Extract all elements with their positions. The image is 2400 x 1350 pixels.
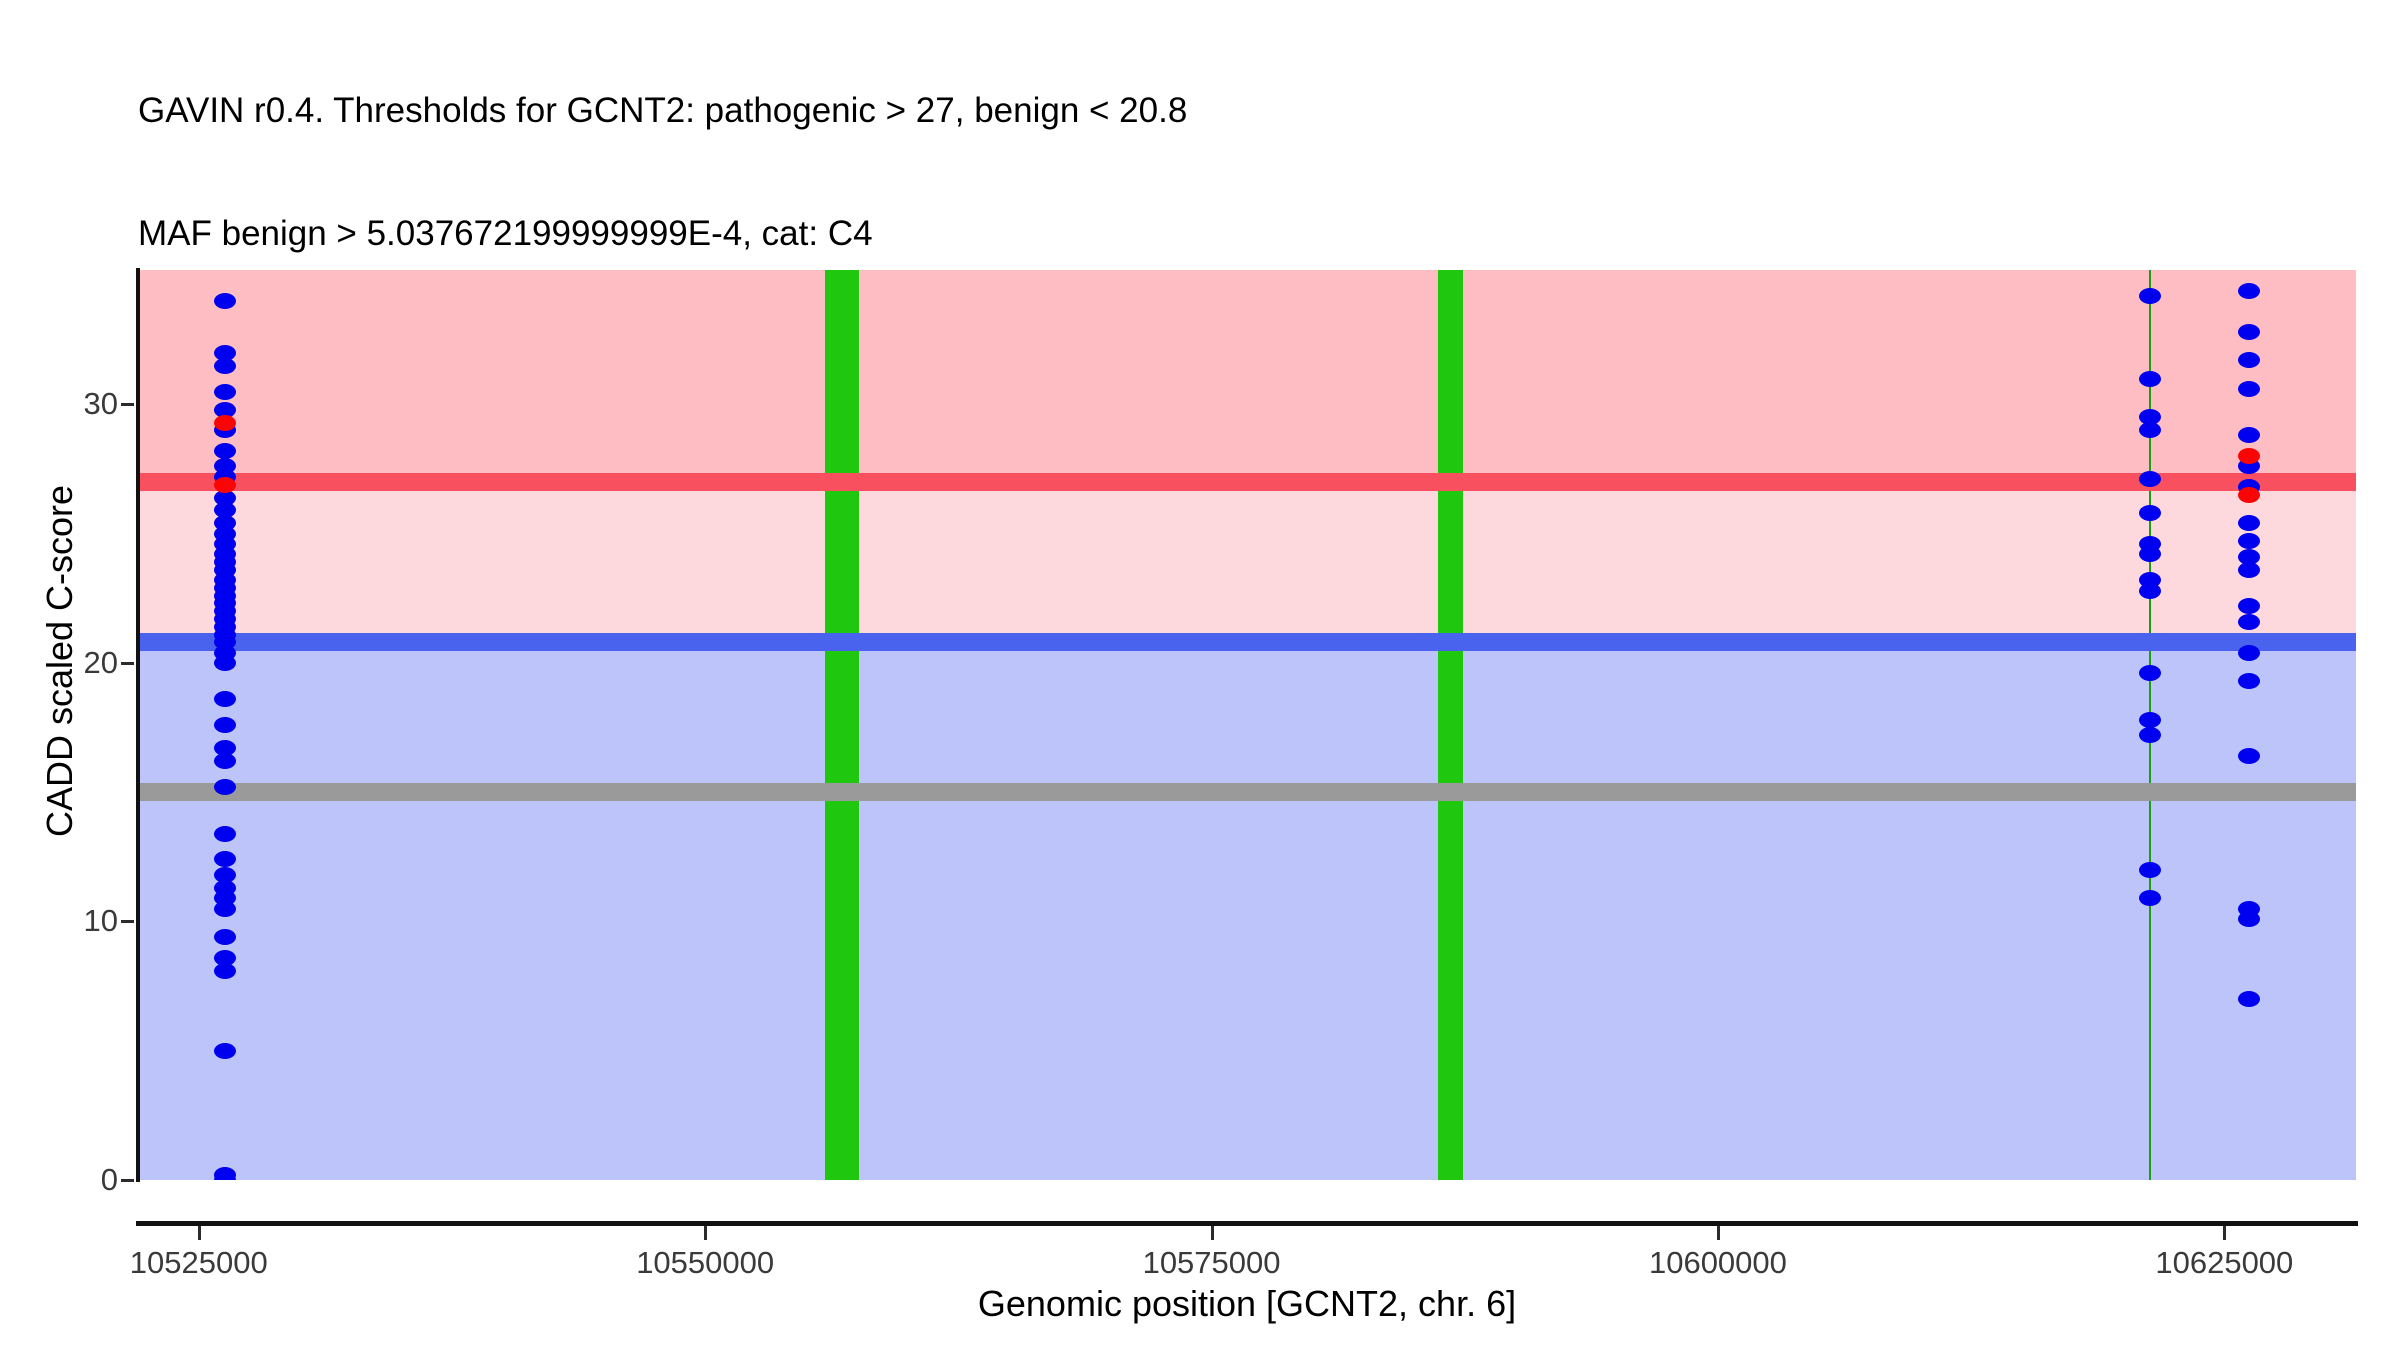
- gnomad-variant-point: [214, 929, 236, 945]
- clinvar-pathogenic-point: [2238, 487, 2260, 503]
- y-axis-label: CADD scaled C-score: [39, 231, 81, 1091]
- x-tick-label: 10600000: [1649, 1245, 1787, 1281]
- band-vus: [138, 482, 2356, 642]
- x-tick-mark: [1717, 1226, 1720, 1240]
- gnomad-variant-point: [214, 717, 236, 733]
- x-tick-mark: [2223, 1226, 2226, 1240]
- refseq-exon-1: [825, 270, 859, 1180]
- gnomad-variant-point: [214, 443, 236, 459]
- chart-title-line-2: MAF benign > 5.037672199999999E-4, cat: …: [138, 213, 2338, 254]
- gnomad-variant-point: [2238, 515, 2260, 531]
- gnomad-variant-point: [2238, 381, 2260, 397]
- gnomad-variant-point: [2139, 583, 2161, 599]
- threshold-line-pathogenic: [138, 473, 2356, 491]
- gnomad-variant-point: [2238, 748, 2260, 764]
- gnomad-variant-point: [214, 1043, 236, 1059]
- x-tick-mark: [1211, 1226, 1214, 1240]
- gnomad-variant-point: [2238, 598, 2260, 614]
- x-tick-mark: [704, 1226, 707, 1240]
- x-tick-label: 10525000: [130, 1245, 268, 1281]
- gnomad-variant-point: [2238, 562, 2260, 578]
- gnomad-variant-point: [214, 779, 236, 795]
- gnomad-variant-point: [214, 384, 236, 400]
- gnomad-variant-point: [214, 293, 236, 309]
- gnomad-variant-point: [2139, 862, 2161, 878]
- chart-root: GAVIN r0.4. Thresholds for GCNT2: pathog…: [0, 0, 2400, 1350]
- gnomad-variant-point: [214, 358, 236, 374]
- gnomad-variant-point: [2238, 991, 2260, 1007]
- x-tick-label: 10550000: [636, 1245, 774, 1281]
- clinvar-pathogenic-point: [214, 477, 236, 493]
- gnomad-variant-point: [2238, 673, 2260, 689]
- gnomad-variant-point: [2139, 371, 2161, 387]
- x-axis-label: Genomic position [GCNT2, chr. 6]: [138, 1283, 2356, 1325]
- x-axis-line: [136, 1221, 2358, 1226]
- gnomad-variant-point: [2238, 645, 2260, 661]
- x-tick-label: 10625000: [2155, 1245, 2293, 1281]
- x-tick-mark: [198, 1226, 201, 1240]
- gnomad-variant-point: [2238, 911, 2260, 927]
- threshold-line-benign: [138, 633, 2356, 651]
- gnomad-variant-point: [2238, 283, 2260, 299]
- gnomad-variant-point: [2139, 712, 2161, 728]
- chart-title-line-1: GAVIN r0.4. Thresholds for GCNT2: pathog…: [138, 90, 2338, 131]
- clinvar-pathogenic-point: [214, 415, 236, 431]
- y-tick-label: 0: [0, 1162, 134, 1198]
- band-benign: [138, 642, 2356, 1180]
- plot-panel: [138, 270, 2356, 1180]
- refseq-exon-2: [1438, 270, 1462, 1180]
- gnomad-variant-point: [214, 901, 236, 917]
- gnomad-variant-point: [2238, 614, 2260, 630]
- clinvar-pathogenic-point: [2238, 448, 2260, 464]
- gnomad-variant-point: [2238, 324, 2260, 340]
- x-tick-label: 10575000: [1143, 1245, 1281, 1281]
- y-axis-line: [136, 268, 140, 1182]
- gnomad-variant-point: [214, 826, 236, 842]
- gnomad-variant-point: [214, 655, 236, 671]
- gnomad-variant-point: [214, 963, 236, 979]
- band-above-pathogenic: [138, 270, 2356, 482]
- threshold-line-genome-wide-fallback: [138, 783, 2356, 801]
